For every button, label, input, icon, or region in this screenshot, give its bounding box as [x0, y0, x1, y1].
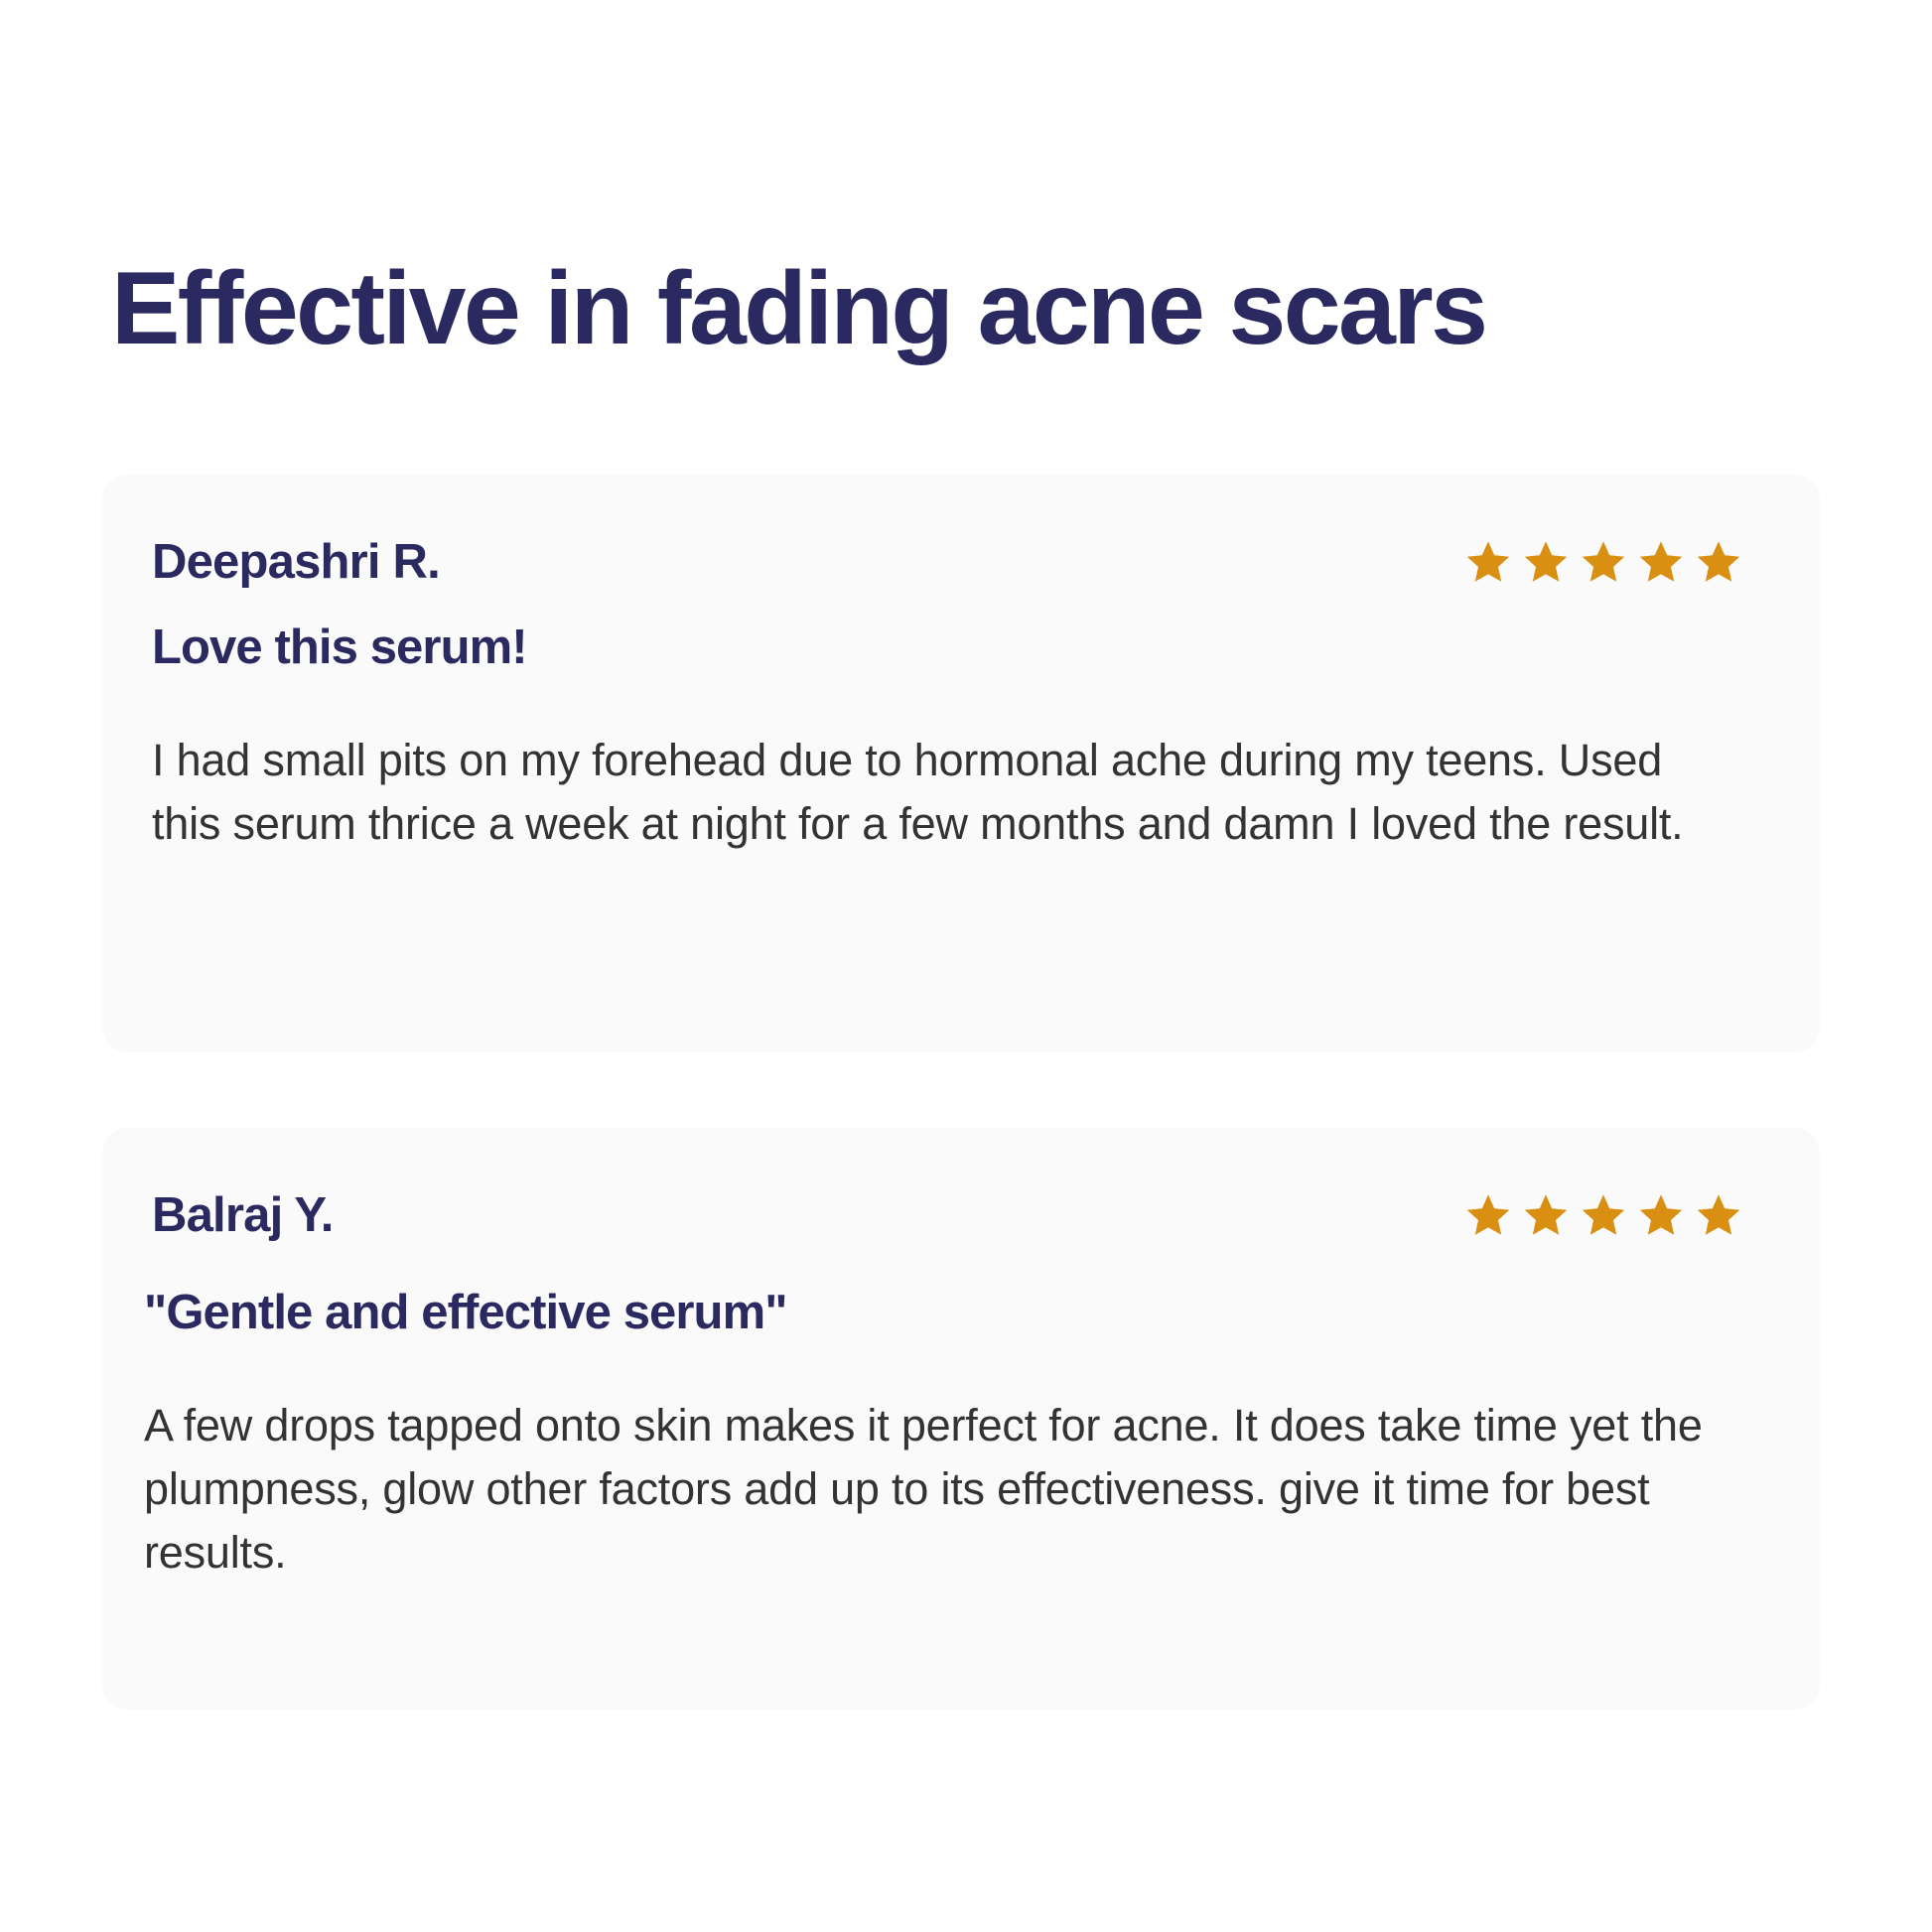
star-icon — [1522, 538, 1570, 586]
reviewer-name: Balraj Y. — [150, 1191, 334, 1240]
star-icon — [1464, 1191, 1512, 1239]
star-icon — [1522, 1191, 1570, 1239]
review-card: Balraj Y. "Gentle and effectiv — [102, 1128, 1820, 1710]
review-title: "Gentle and effective serum" — [144, 1287, 787, 1340]
star-rating — [1464, 538, 1772, 586]
star-icon — [1695, 1191, 1742, 1239]
review-body: I had small pits on my forehead due to h… — [152, 729, 1740, 856]
review-title: Love this serum! — [152, 621, 527, 675]
review-card: Deepashri R. Love this serum! — [102, 475, 1820, 1052]
page-title: Effective in fading acne scars — [111, 254, 1821, 363]
star-icon — [1637, 1191, 1685, 1239]
review-card-header: Balraj Y. — [150, 1179, 1772, 1251]
review-section: Effective in fading acne scars Deepashri… — [0, 0, 1932, 1932]
star-icon — [1580, 538, 1627, 586]
star-icon — [1464, 538, 1512, 586]
review-card-header: Deepashri R. — [150, 526, 1772, 598]
star-icon — [1580, 1191, 1627, 1239]
star-icon — [1637, 538, 1685, 586]
review-body: A few drops tapped onto skin makes it pe… — [144, 1394, 1762, 1585]
star-icon — [1695, 538, 1742, 586]
star-rating — [1464, 1191, 1772, 1239]
reviewer-name: Deepashri R. — [150, 538, 440, 587]
